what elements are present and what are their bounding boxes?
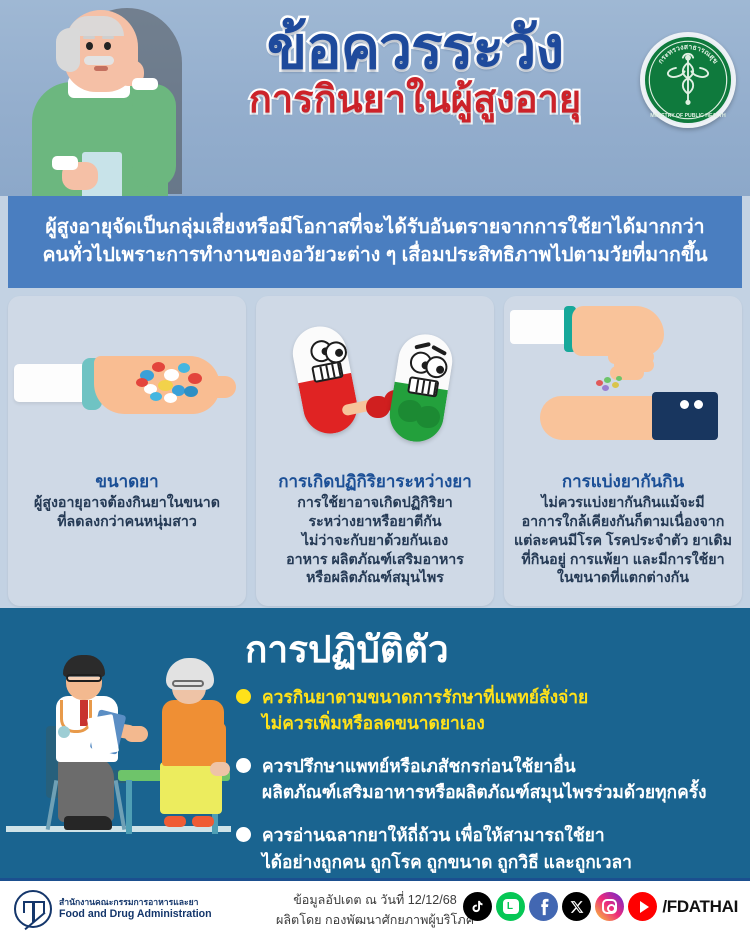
list-item-line-1: ควรกินยาตามขนาดการรักษาที่แพทย์สั่งจ่าย — [262, 687, 588, 707]
header-banner: ข้อควรระวัง การกินยาในผู้สูงอายุ — [0, 0, 750, 196]
card-body: ผู้สูงอายุอาจต้องกินยาในขนาดที่ลดลงกว่าค… — [16, 494, 238, 531]
doctor-patient-illustration — [6, 630, 231, 850]
intro-line-1: ผู้สูงอายุจัดเป็นกลุ่มเสี่ยงหรือมีโอกาสท… — [45, 216, 704, 238]
youtube-icon[interactable] — [628, 892, 657, 921]
card-body: การใช้ยาอาจเกิดปฏิกิริยาระหว่างยาหรือยาต… — [264, 494, 486, 588]
fda-name-english: Food and Drug Administration — [59, 908, 212, 921]
list-item: ควรปรึกษาแพทย์หรือเภสัชกรก่อนใช้ยาอื่น ผ… — [236, 753, 748, 805]
hand-with-pills-icon — [8, 296, 246, 472]
sharing-pills-hands-icon — [504, 296, 742, 472]
footer: สำนักงานคณะกรรมการอาหารและยา Food and Dr… — [0, 878, 750, 938]
fighting-capsules-icon — [256, 296, 494, 472]
fda-logo: สำนักงานคณะกรรมการอาหารและยา Food and Dr… — [14, 890, 212, 928]
header-title-group: ข้อควรระวัง การกินยาในผู้สูงอายุ — [190, 18, 640, 122]
practice-title: การปฏิบัติตัว — [245, 620, 449, 679]
card-title: การเกิดปฏิกิริยาระหว่างยา — [264, 472, 486, 492]
elderly-man-illustration — [28, 0, 198, 196]
card-body: ไม่ควรแบ่งยากันกินแม้จะมีอาการใกล้เคียงก… — [512, 494, 734, 588]
instagram-icon[interactable] — [595, 892, 624, 921]
practice-list: ควรกินยาตามขนาดการรักษาที่แพทย์สั่งจ่าย … — [236, 684, 748, 892]
card-dosage: ขนาดยา ผู้สูงอายุอาจต้องกินยาในขนาดที่ลด… — [8, 296, 246, 606]
social-links: L /FDATHAI — [463, 892, 738, 921]
list-item-line-2: ได้อย่างถูกคน ถูกโรค ถูกขนาด ถูกวิธี และ… — [262, 852, 632, 872]
tiktok-icon[interactable] — [463, 892, 492, 921]
list-item-line-1: ควรปรึกษาแพทย์หรือเภสัชกรก่อนใช้ยาอื่น — [262, 756, 576, 776]
svg-text:MINISTRY OF PUBLIC HEALTH: MINISTRY OF PUBLIC HEALTH — [650, 113, 726, 119]
list-item: ควรอ่านฉลากยาให้ถี่ถ้วน เพื่อให้สามารถใช… — [236, 822, 748, 874]
card-title: การแบ่งยากันกิน — [512, 472, 734, 492]
facebook-icon[interactable] — [529, 892, 558, 921]
bullet-dot-icon — [236, 827, 251, 842]
intro-line-2: คนทั่วไปเพราะการทำงานของอวัยวะต่าง ๆ เสื… — [42, 244, 707, 266]
intro-banner: ผู้สูงอายุจัดเป็นกลุ่มเสี่ยงหรือมีโอกาสท… — [8, 196, 742, 288]
social-handle[interactable]: /FDATHAI — [662, 897, 738, 917]
card-drug-interaction: การเกิดปฏิกิริยาระหว่างยา การใช้ยาอาจเกิ… — [256, 296, 494, 606]
page-subtitle: การกินยาในผู้สูงอายุ — [190, 80, 640, 122]
fda-mark-icon — [14, 890, 52, 928]
x-icon[interactable] — [562, 892, 591, 921]
bullet-dot-icon — [236, 689, 251, 704]
ministry-of-public-health-seal-icon: MINISTRY OF PUBLIC HEALTH กระทรวงสาธารณส… — [640, 32, 736, 128]
footer-divider — [0, 878, 750, 881]
bullet-dot-icon — [236, 758, 251, 773]
list-item-line-2: ผลิตภัณฑ์เสริมอาหารหรือผลิตภัณฑ์สมุนไพรร… — [262, 782, 707, 802]
list-item-line-1: ควรอ่านฉลากยาให้ถี่ถ้วน เพื่อให้สามารถใช… — [262, 825, 605, 845]
card-title: ขนาดยา — [16, 472, 238, 492]
list-item: ควรกินยาตามขนาดการรักษาที่แพทย์สั่งจ่าย … — [236, 684, 748, 736]
card-sharing-medicine: การแบ่งยากันกิน ไม่ควรแบ่งยากันกินแม้จะม… — [504, 296, 742, 606]
warning-cards: ขนาดยา ผู้สูงอายุอาจต้องกินยาในขนาดที่ลด… — [8, 296, 742, 606]
practice-section: การปฏิบัติตัว ควรกินยาตามขนาดการรักษาที่… — [0, 608, 750, 878]
list-item-line-2: ไม่ควรเพิ่มหรือลดขนาดยาเอง — [262, 713, 485, 733]
fda-name-thai: สำนักงานคณะกรรมการอาหารและยา — [59, 897, 212, 907]
page-title: ข้อควรระวัง — [190, 18, 640, 78]
line-icon[interactable]: L — [496, 892, 525, 921]
infographic-page: ข้อควรระวัง การกินยาในผู้สูงอายุ — [0, 0, 750, 938]
